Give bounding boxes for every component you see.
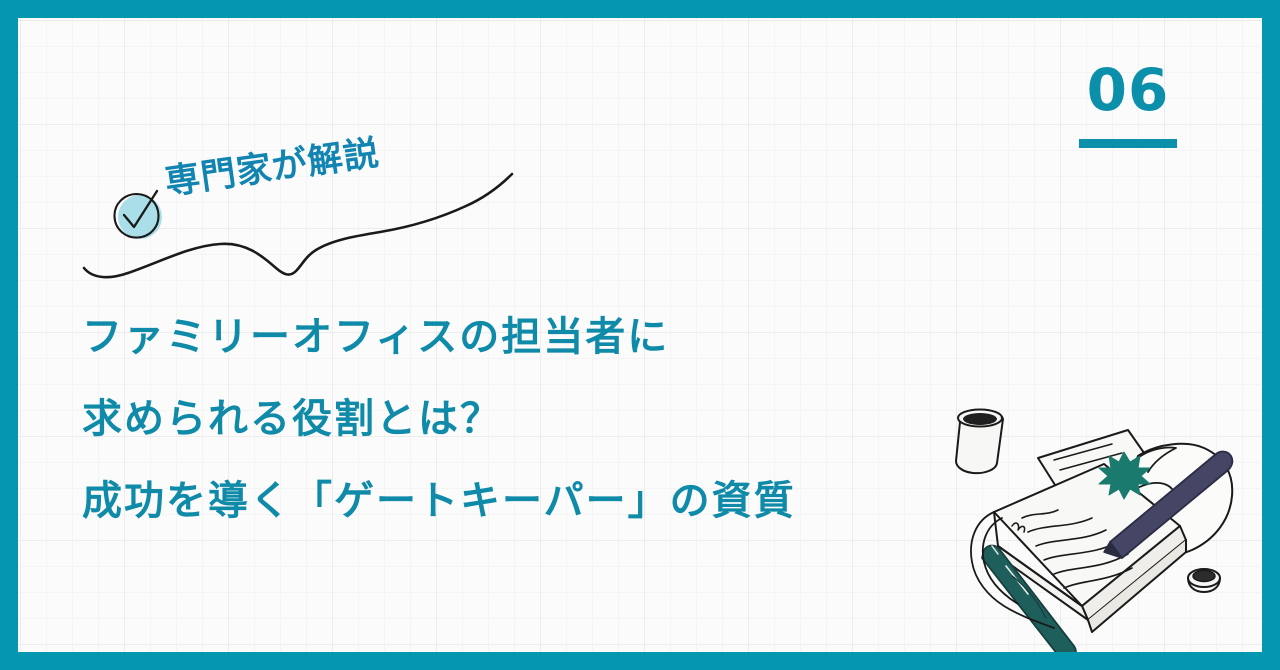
slide-number-block: 06: [1068, 61, 1188, 148]
headline-line-3: 成功を導く「ゲートキーパー」の資質: [82, 460, 962, 542]
headline-line-2: 求められる役割とは？: [82, 378, 962, 460]
slide-canvas: 06 専門家が解説 ファミリーオフィスの担当者に 求められる役割: [0, 0, 1280, 670]
check-circle-icon: [108, 186, 168, 246]
slide-number-underline: [1079, 139, 1177, 148]
expert-badge: 専門家が解説: [80, 154, 540, 284]
headline-line-1: ファミリーオフィスの担当者に: [82, 296, 962, 378]
grid-paper-background: 06 専門家が解説 ファミリーオフィスの担当者に 求められる役割: [18, 18, 1262, 652]
ring-icon: [1188, 569, 1220, 592]
expert-badge-label: 専門家が解説: [163, 134, 382, 202]
hand-writing-notebook-illustration: [942, 400, 1242, 652]
page-title: ファミリーオフィスの担当者に 求められる役割とは？ 成功を導く「ゲートキーパー」…: [82, 296, 962, 542]
coffee-cup-icon: [956, 410, 1003, 474]
slide-number: 06: [1068, 61, 1188, 119]
